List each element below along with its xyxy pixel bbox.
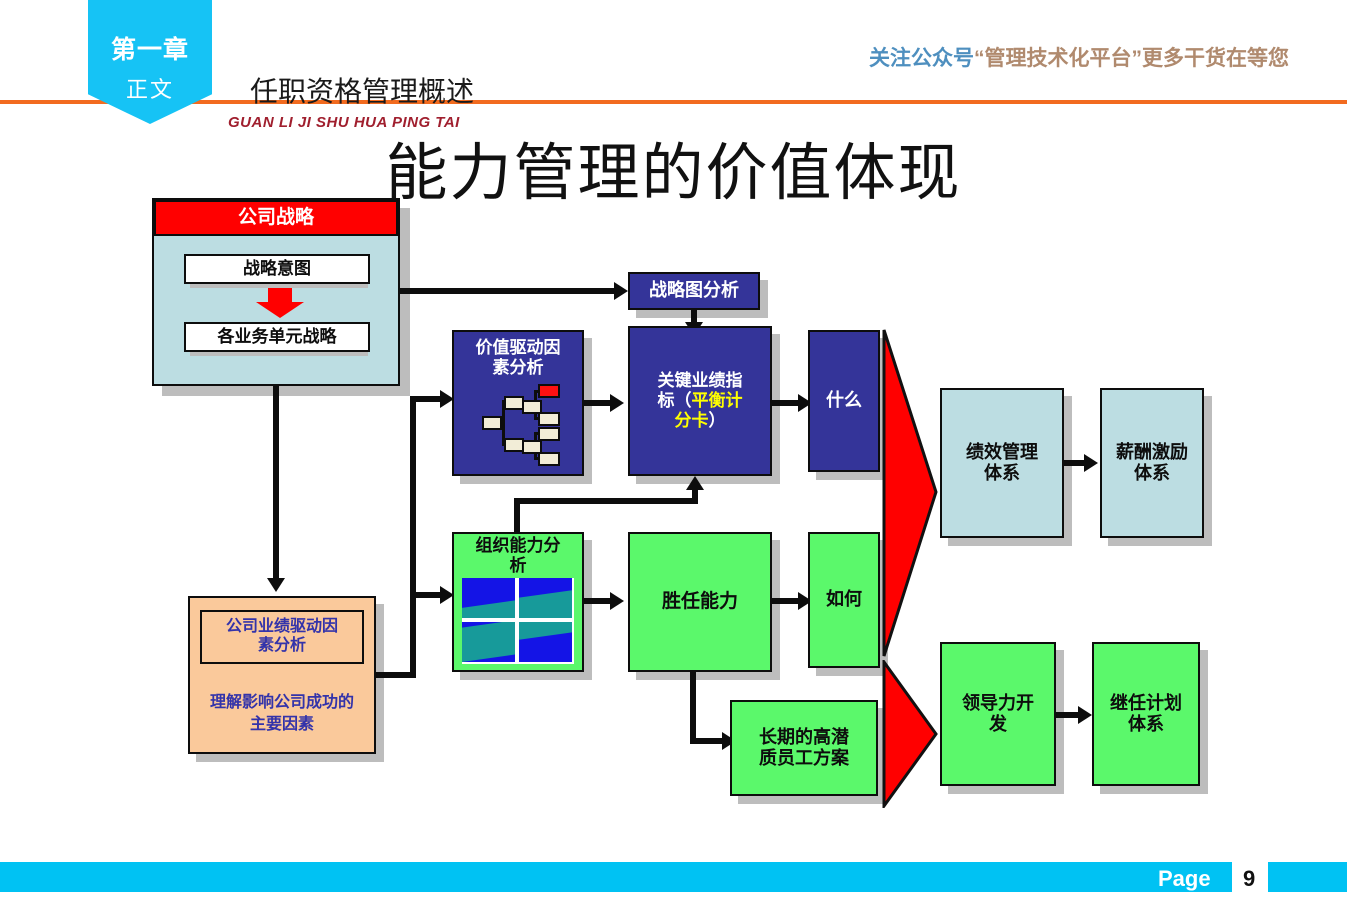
arrowhead-perf-to-comp xyxy=(1084,454,1098,472)
map-analysis-box: 战略图分析 xyxy=(628,272,760,310)
strategy-inner-arrow-icon xyxy=(256,288,304,318)
leadership-line1: 领导力开 xyxy=(962,693,1034,714)
kpi-line3-highlight: 分卡 xyxy=(675,411,709,430)
strategy-header: 公司战略 xyxy=(154,200,398,236)
connector-org-to-competency xyxy=(584,598,612,604)
connector-competency-drop xyxy=(690,672,696,744)
perf-mgmt-line1: 绩效管理 xyxy=(966,442,1038,463)
talent-program-box: 长期的高潜 质员工方案 xyxy=(730,700,878,796)
perf-mgmt-box: 绩效管理 体系 xyxy=(940,388,1064,538)
value-driver-line1: 价值驱动因 xyxy=(452,338,584,358)
chapter-ribbon-line1: 第一章 xyxy=(88,30,212,66)
succession-box: 继任计划 体系 xyxy=(1092,642,1200,786)
comp-incentive-line2: 体系 xyxy=(1134,463,1170,484)
org-capability-label: 组织能力分 析 xyxy=(452,536,584,575)
section-subtitle: 任职资格管理概述 xyxy=(250,70,474,110)
arrowhead-strategy-to-map xyxy=(614,282,628,300)
org-capability-line2: 析 xyxy=(452,556,584,576)
strategy-item-intent-label: 战略意图 xyxy=(243,259,311,279)
footer-page-number: 9 xyxy=(1243,866,1255,892)
strategy-header-label: 公司战略 xyxy=(238,207,314,229)
org-capability-line1: 组织能力分 xyxy=(452,536,584,556)
arrowhead-org-to-competency xyxy=(610,592,624,610)
succession-line1: 继任计划 xyxy=(1110,693,1182,714)
tree-node-highlight xyxy=(538,384,560,398)
competency-box: 胜任能力 xyxy=(628,532,772,672)
kpi-line1: 关键业绩指 xyxy=(658,371,743,391)
connector-kpi-to-what xyxy=(772,400,800,406)
connector-branch-to-org xyxy=(410,592,442,598)
connector-driver-riser xyxy=(410,396,416,678)
succession-line2: 体系 xyxy=(1128,714,1164,735)
value-driver-tree-icon xyxy=(482,388,554,468)
comp-incentive-line1: 薪酬激励 xyxy=(1116,442,1188,463)
driver-desc: 理解影响公司成功的 主要因素 xyxy=(188,692,376,735)
footer-bar-right xyxy=(1268,862,1347,892)
competency-label: 胜任能力 xyxy=(662,591,738,613)
driver-inner-line1: 公司业绩驱动因 xyxy=(226,618,338,637)
promo-banner: 关注公众号“管理技术化平台”更多干货在等您 xyxy=(869,42,1289,72)
leadership-line2: 发 xyxy=(989,714,1007,735)
connector-org-run xyxy=(514,498,698,504)
strategy-item-bu-label: 各业务单元战略 xyxy=(218,327,337,347)
driver-desc-line1: 理解影响公司成功的 xyxy=(188,692,376,714)
org-capability-matrix-icon xyxy=(462,578,574,664)
footer-page-label: Page xyxy=(1158,866,1211,892)
connector-branch-to-value-driver xyxy=(410,396,442,402)
arrowhead-strategy-to-driver xyxy=(267,578,285,592)
connector-competency-to-talent xyxy=(690,738,726,744)
strategy-item-bu: 各业务单元战略 xyxy=(184,322,370,352)
kpi-line3: 分卡） xyxy=(675,411,726,431)
arrowhead-org-to-kpi xyxy=(686,476,704,490)
connector-strategy-to-map xyxy=(400,288,616,294)
leadership-box: 领导力开 发 xyxy=(940,642,1056,786)
connector-org-to-kpi xyxy=(692,490,698,504)
comp-incentive-box: 薪酬激励 体系 xyxy=(1100,388,1204,538)
kpi-line2-pre: 标（ xyxy=(658,391,692,410)
talent-program-line1: 长期的高潜 xyxy=(759,727,849,748)
how-box: 如何 xyxy=(808,532,880,668)
value-driver-label: 价值驱动因 素分析 xyxy=(452,338,584,379)
driver-inner-box: 公司业绩驱动因 素分析 xyxy=(200,610,364,664)
connector-perf-to-comp xyxy=(1064,460,1086,466)
promo-banner-brown: “管理技术化平台”更多干货在等您 xyxy=(974,47,1289,70)
talent-program-line2: 质员工方案 xyxy=(759,748,849,769)
chapter-ribbon-line2: 正文 xyxy=(88,72,212,104)
kpi-line2-highlight: 平衡计 xyxy=(692,391,743,410)
driver-desc-line2: 主要因素 xyxy=(188,714,376,736)
arrowhead-value-driver-to-kpi xyxy=(610,394,624,412)
arrowhead-leadership-to-succession xyxy=(1078,706,1092,724)
footer-bar-left xyxy=(0,862,1232,892)
driver-inner-line2: 素分析 xyxy=(258,637,306,656)
connector-value-driver-to-kpi xyxy=(584,400,612,406)
chapter-ribbon: 第一章 正文 xyxy=(88,0,212,124)
header-accent-rule xyxy=(0,100,1347,104)
promo-banner-blue: 关注公众号 xyxy=(869,47,974,70)
red-arrow-bottom-icon xyxy=(882,660,938,808)
kpi-line3-post: ） xyxy=(709,411,726,430)
value-driver-line2: 素分析 xyxy=(452,358,584,378)
kpi-box: 关键业绩指 标（平衡计 分卡） xyxy=(628,326,772,476)
connector-competency-to-how xyxy=(772,598,800,604)
slide-canvas: 第一章 正文 任职资格管理概述 GUAN LI JI SHU HUA PING … xyxy=(0,0,1347,900)
connector-strategy-to-driver xyxy=(273,386,279,582)
how-label: 如何 xyxy=(826,589,862,610)
kpi-line2: 标（平衡计 xyxy=(658,391,743,411)
what-label: 什么 xyxy=(826,390,862,411)
perf-mgmt-line2: 体系 xyxy=(984,463,1020,484)
map-analysis-label: 战略图分析 xyxy=(649,280,739,301)
connector-leadership-to-succession xyxy=(1056,712,1080,718)
red-arrow-top-icon xyxy=(882,328,938,658)
strategy-item-intent: 战略意图 xyxy=(184,254,370,284)
what-box: 什么 xyxy=(808,330,880,472)
